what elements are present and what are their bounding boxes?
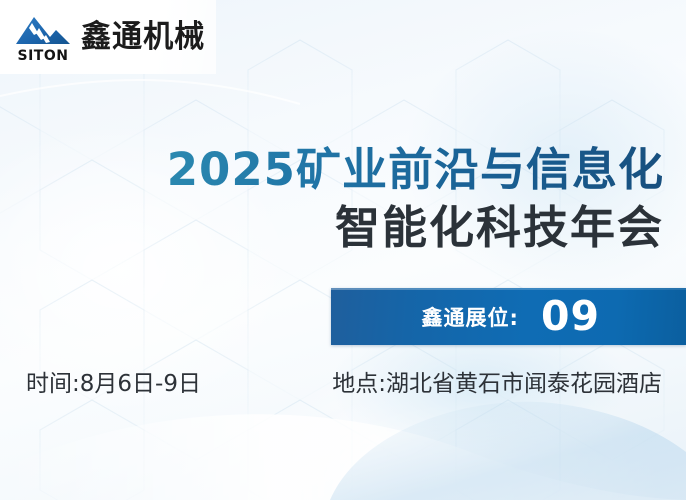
event-meta-row: 时间:8月6日-9日 地点:湖北省黄石市闻泰花园酒店	[26, 368, 662, 400]
mountain-logo-icon: SITON	[12, 11, 74, 63]
booth-number: 09	[541, 296, 600, 337]
conference-poster: SITON 鑫通机械 2025矿业前沿与信息化 智能化科技年会 鑫通展位: 09…	[0, 0, 686, 500]
event-location: 地点:湖北省黄石市闻泰花园酒店	[332, 368, 662, 400]
background-glow-bottom	[230, 340, 670, 500]
headline-line-2: 智能化科技年会	[0, 201, 664, 255]
booth-banner: 鑫通展位: 09	[331, 288, 686, 345]
headline-line-1: 2025矿业前沿与信息化	[0, 142, 664, 198]
booth-label: 鑫通展位:	[422, 302, 519, 332]
brand-name: 鑫通机械	[81, 22, 205, 53]
headline-block: 2025矿业前沿与信息化 智能化科技年会	[0, 142, 664, 255]
svg-text:SITON: SITON	[18, 48, 69, 63]
brand-logo: SITON 鑫通机械	[0, 0, 216, 74]
event-time: 时间:8月6日-9日	[26, 368, 201, 400]
